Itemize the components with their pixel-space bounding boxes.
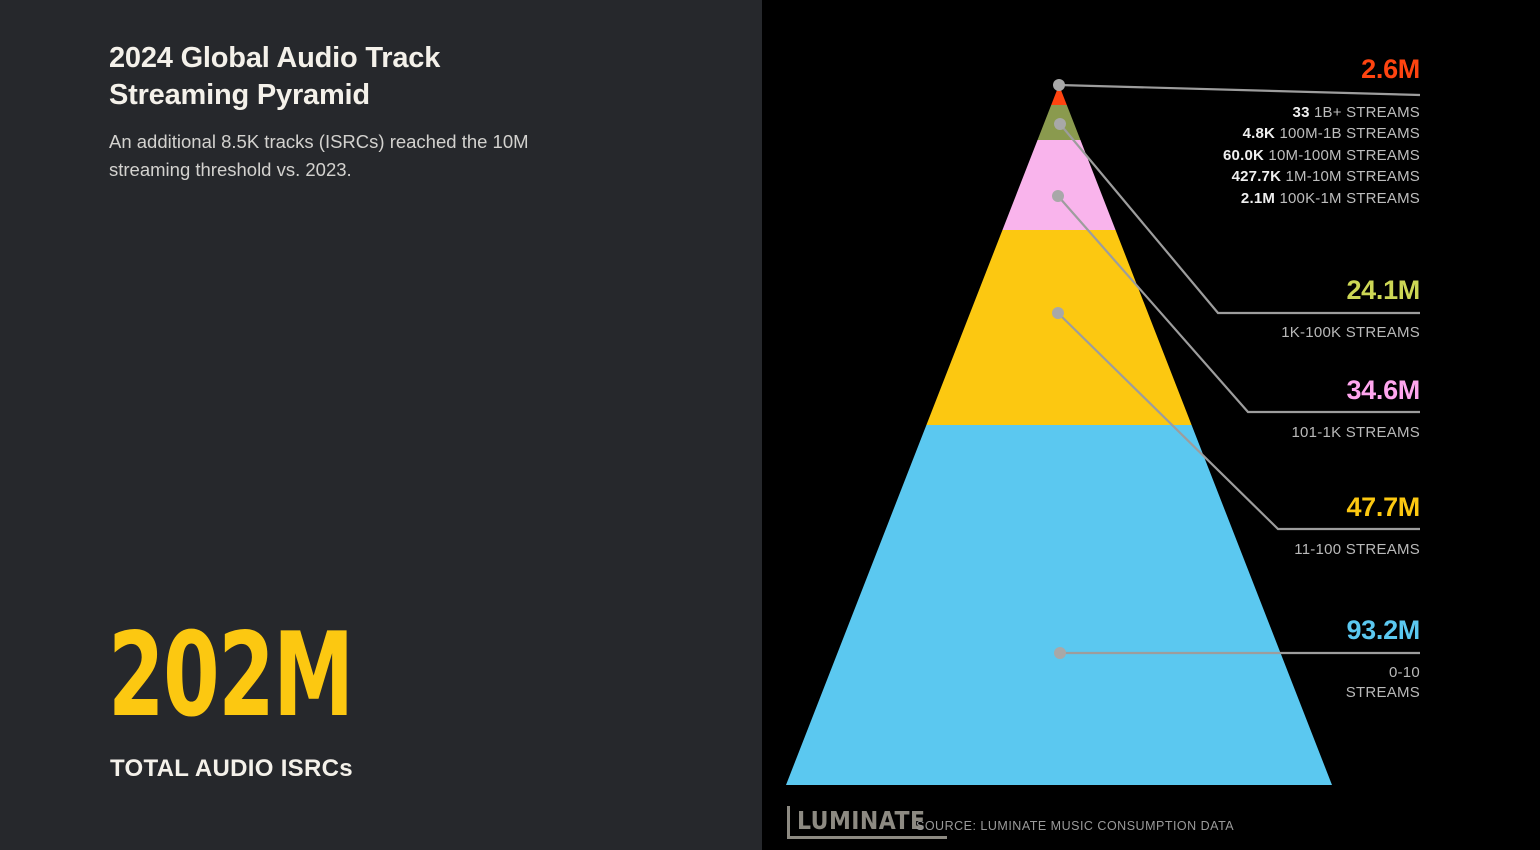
anchor-dot-2-6m	[1053, 79, 1065, 91]
anchor-dot-93-2m	[1054, 647, 1066, 659]
breakdown-label: 1M-10M STREAMS	[1281, 168, 1420, 185]
luminate-logo-text: LUMINATE	[797, 808, 925, 833]
annotation-desc-101-1k: 101-1K STREAMS	[1120, 423, 1420, 443]
breakdown-label: 100M-1B STREAMS	[1275, 125, 1420, 142]
breakdown-label: 100K-1M STREAMS	[1275, 190, 1420, 207]
breakdown-item: 33 1B+ STREAMS	[1040, 102, 1420, 123]
breakdown-count: 60.0K	[1223, 147, 1264, 164]
annotation-desc-1k-100k: 1K-100K STREAMS	[1120, 323, 1420, 343]
annotation-1k-100k: 24.1M 1K-100K STREAMS	[1120, 277, 1420, 343]
annotation-0-10: 93.2M 0-10 STREAMS	[1120, 617, 1420, 703]
breakdown-count: 4.8K	[1243, 125, 1276, 142]
annotation-101-1k: 34.6M 101-1K STREAMS	[1120, 377, 1420, 443]
anchor-dot-47-7m	[1052, 307, 1064, 319]
breakdown-item: 60.0K 10M-100M STREAMS	[1040, 145, 1420, 166]
breakdown-count: 33	[1293, 104, 1310, 121]
annotation-value-2-6m: 2.6M	[1120, 56, 1420, 83]
breakdown-item: 2.1M 100K-1M STREAMS	[1040, 188, 1420, 209]
breakdown-label: 10M-100M STREAMS	[1264, 147, 1420, 164]
annotation-value-34-6m: 34.6M	[1120, 377, 1420, 404]
annotation-11-100: 47.7M 11-100 STREAMS	[1120, 494, 1420, 560]
annotation-value-93-2m: 93.2M	[1120, 617, 1420, 644]
breakdown-count: 2.1M	[1241, 190, 1275, 207]
infographic-canvas: 2024 Global Audio Track Streaming Pyrami…	[0, 0, 1540, 850]
annotation-desc-11-100: 11-100 STREAMS	[1120, 540, 1420, 560]
annotation-value-47-7m: 47.7M	[1120, 494, 1420, 521]
annotation-desc-0-10: 0-10 STREAMS	[1120, 663, 1420, 703]
breakdown-list: 33 1B+ STREAMS 4.8K 100M-1B STREAMS 60.0…	[1040, 102, 1420, 209]
annotation-value-24-1m: 24.1M	[1120, 277, 1420, 304]
breakdown-label: 1B+ STREAMS	[1310, 104, 1420, 121]
pyramid-band-0-10	[780, 425, 1340, 786]
leader-line-2-6m	[1059, 85, 1420, 95]
source-attribution: SOURCE: LUMINATE MUSIC CONSUMPTION DATA	[916, 819, 1234, 833]
breakdown-item: 4.8K 100M-1B STREAMS	[1040, 123, 1420, 144]
breakdown-item: 427.7K 1M-10M STREAMS	[1040, 166, 1420, 187]
annotation-100k-plus: 2.6M	[1120, 56, 1420, 83]
breakdown-count: 427.7K	[1232, 168, 1282, 185]
